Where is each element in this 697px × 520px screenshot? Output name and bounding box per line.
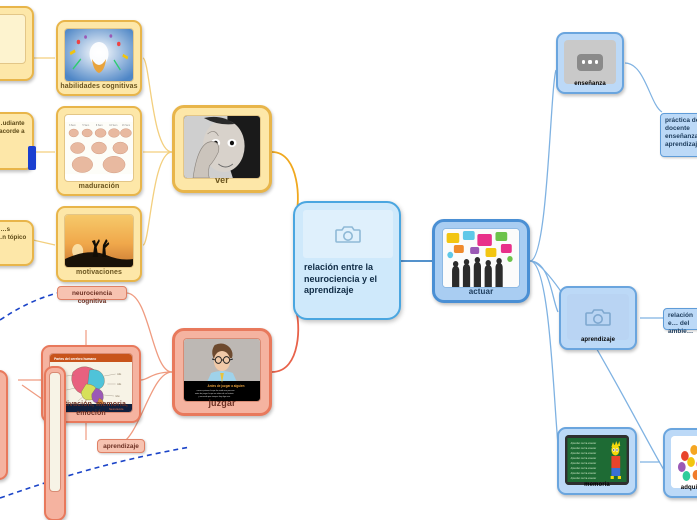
mindmap-canvas: …d que …udiante …enar …acorde a …el …te …	[0, 0, 697, 520]
svg-text:lobo: lobo	[117, 373, 122, 376]
ensenanza-label: enseñanza	[560, 80, 620, 89]
habilidades-cognitivas-label: habilidades cognitivas	[60, 82, 138, 91]
maduracion-image: 3 Sem5 Sem8 Sem 10 Sem16 Sem	[64, 114, 134, 182]
central-topic-node[interactable]: relación entre la neurociencia y el apre…	[293, 201, 401, 320]
juzgar-image: Antes de juzgar a alguien conoce primero…	[183, 338, 261, 402]
svg-text:lobo: lobo	[116, 395, 121, 398]
node-actuar[interactable]: actuar	[432, 219, 530, 303]
aprendizaje-placeholder	[567, 294, 629, 340]
note-relacion-ambiente[interactable]: relación e… del ambie…	[663, 308, 697, 330]
node-motivaciones[interactable]: motivaciones	[56, 206, 142, 282]
node-habilidades-cognitivas[interactable]: habilidades cognitivas	[56, 20, 142, 96]
node-adquisicion[interactable]: adquisición	[663, 428, 697, 498]
habilidades-cognitivas-image	[64, 28, 134, 82]
svg-text:Aprender me ha ensenar: Aprender me ha ensenar	[571, 451, 597, 455]
label-aprendizaje-juzgar[interactable]: aprendizaje	[97, 439, 145, 453]
node-juzgar[interactable]: Antes de juzgar a alguien conoce primero…	[172, 328, 272, 416]
central-topic-title: relación entre la neurociencia y el apre…	[304, 262, 393, 297]
svg-text:Aprender me ha ensenar: Aprender me ha ensenar	[571, 446, 597, 450]
svg-text:5 Sem: 5 Sem	[82, 124, 89, 127]
node-ver[interactable]: ver	[172, 105, 272, 193]
node-bottom-left-cutoff[interactable]	[0, 370, 8, 480]
svg-text:Aprender me ha ensenar: Aprender me ha ensenar	[571, 461, 597, 465]
node-bottom-left-panel-cutoff[interactable]	[44, 366, 66, 520]
svg-text:Aprender me ha ensenar: Aprender me ha ensenar	[571, 441, 597, 445]
camera-icon	[585, 307, 611, 327]
svg-text:Aprender me ha ensenar: Aprender me ha ensenar	[571, 466, 597, 470]
maduracion-label: maduración	[60, 182, 138, 191]
camera-icon	[335, 224, 361, 244]
svg-text:Aprender me ha ensenar: Aprender me ha ensenar	[571, 476, 597, 480]
note-ver-lower-cutoff[interactable]: …el …te …s interés …n tópico	[0, 220, 34, 266]
svg-text:10 Sem: 10 Sem	[109, 124, 117, 127]
adquisicion-image	[671, 436, 697, 488]
svg-text:lobo: lobo	[117, 383, 122, 386]
note-ver-lower-text: …el …te …s interés …n tópico	[0, 226, 30, 242]
svg-text:Aprender me ha ensenar: Aprender me ha ensenar	[571, 471, 597, 475]
central-image-placeholder	[303, 210, 393, 258]
juzgar-label: juzgar	[177, 399, 267, 408]
note-thumb	[0, 14, 26, 64]
actuar-image	[442, 228, 520, 288]
svg-text:16 Sem: 16 Sem	[122, 124, 130, 127]
node-maduracion[interactable]: 3 Sem5 Sem8 Sem 10 Sem16 Sem maduración	[56, 106, 142, 196]
dots-placeholder-icon	[577, 54, 603, 71]
svg-text:Partes del cerebro humano: Partes del cerebro humano	[54, 357, 97, 361]
node-aprendizaje-actuar[interactable]: aprendizaje	[559, 286, 637, 350]
node-ensenanza[interactable]: enseñanza	[556, 32, 624, 94]
svg-text:antes de juzgar lo que no sabe: antes de juzgar lo que no sabes de su hi…	[195, 392, 235, 395]
memoria-label: memoria	[561, 481, 633, 490]
aprendizaje-actuar-label: aprendizaje	[563, 336, 633, 345]
motivaciones-image	[64, 214, 134, 268]
actuar-label: actuar	[437, 287, 525, 296]
adquisicion-label: adquisición	[667, 484, 697, 493]
note-ver-middle-accent	[28, 146, 36, 170]
svg-text:Aprender me ha ensenar: Aprender me ha ensenar	[571, 456, 597, 460]
svg-text:8 Sem: 8 Sem	[96, 124, 103, 127]
note-ver-middle-text: …d que …udiante …enar …acorde a	[0, 120, 30, 136]
bottom-left-panel-image	[49, 372, 61, 492]
motivaciones-label: motivaciones	[60, 268, 138, 277]
memoria-image: Aprender me ha ensenar Aprender me ha en…	[565, 435, 629, 485]
note-practica-docente[interactable]: práctica del docente enseñanza - aprendi…	[660, 113, 697, 157]
note-ver-top-cutoff[interactable]	[0, 6, 34, 81]
ensenanza-placeholder	[564, 40, 616, 84]
svg-text:conoce primero lo que ha vivid: conoce primero lo que ha vivido esa pers…	[197, 390, 236, 392]
label-neurociencia-cognitiva[interactable]: neurociencia cognitiva	[57, 286, 127, 300]
ver-image	[183, 115, 261, 179]
svg-text:Antes de juzgar a alguien: Antes de juzgar a alguien	[208, 384, 245, 388]
svg-text:3 Sem: 3 Sem	[69, 124, 76, 127]
node-memoria[interactable]: Aprender me ha ensenar Aprender me ha en…	[557, 427, 637, 495]
ver-label: ver	[177, 176, 267, 185]
